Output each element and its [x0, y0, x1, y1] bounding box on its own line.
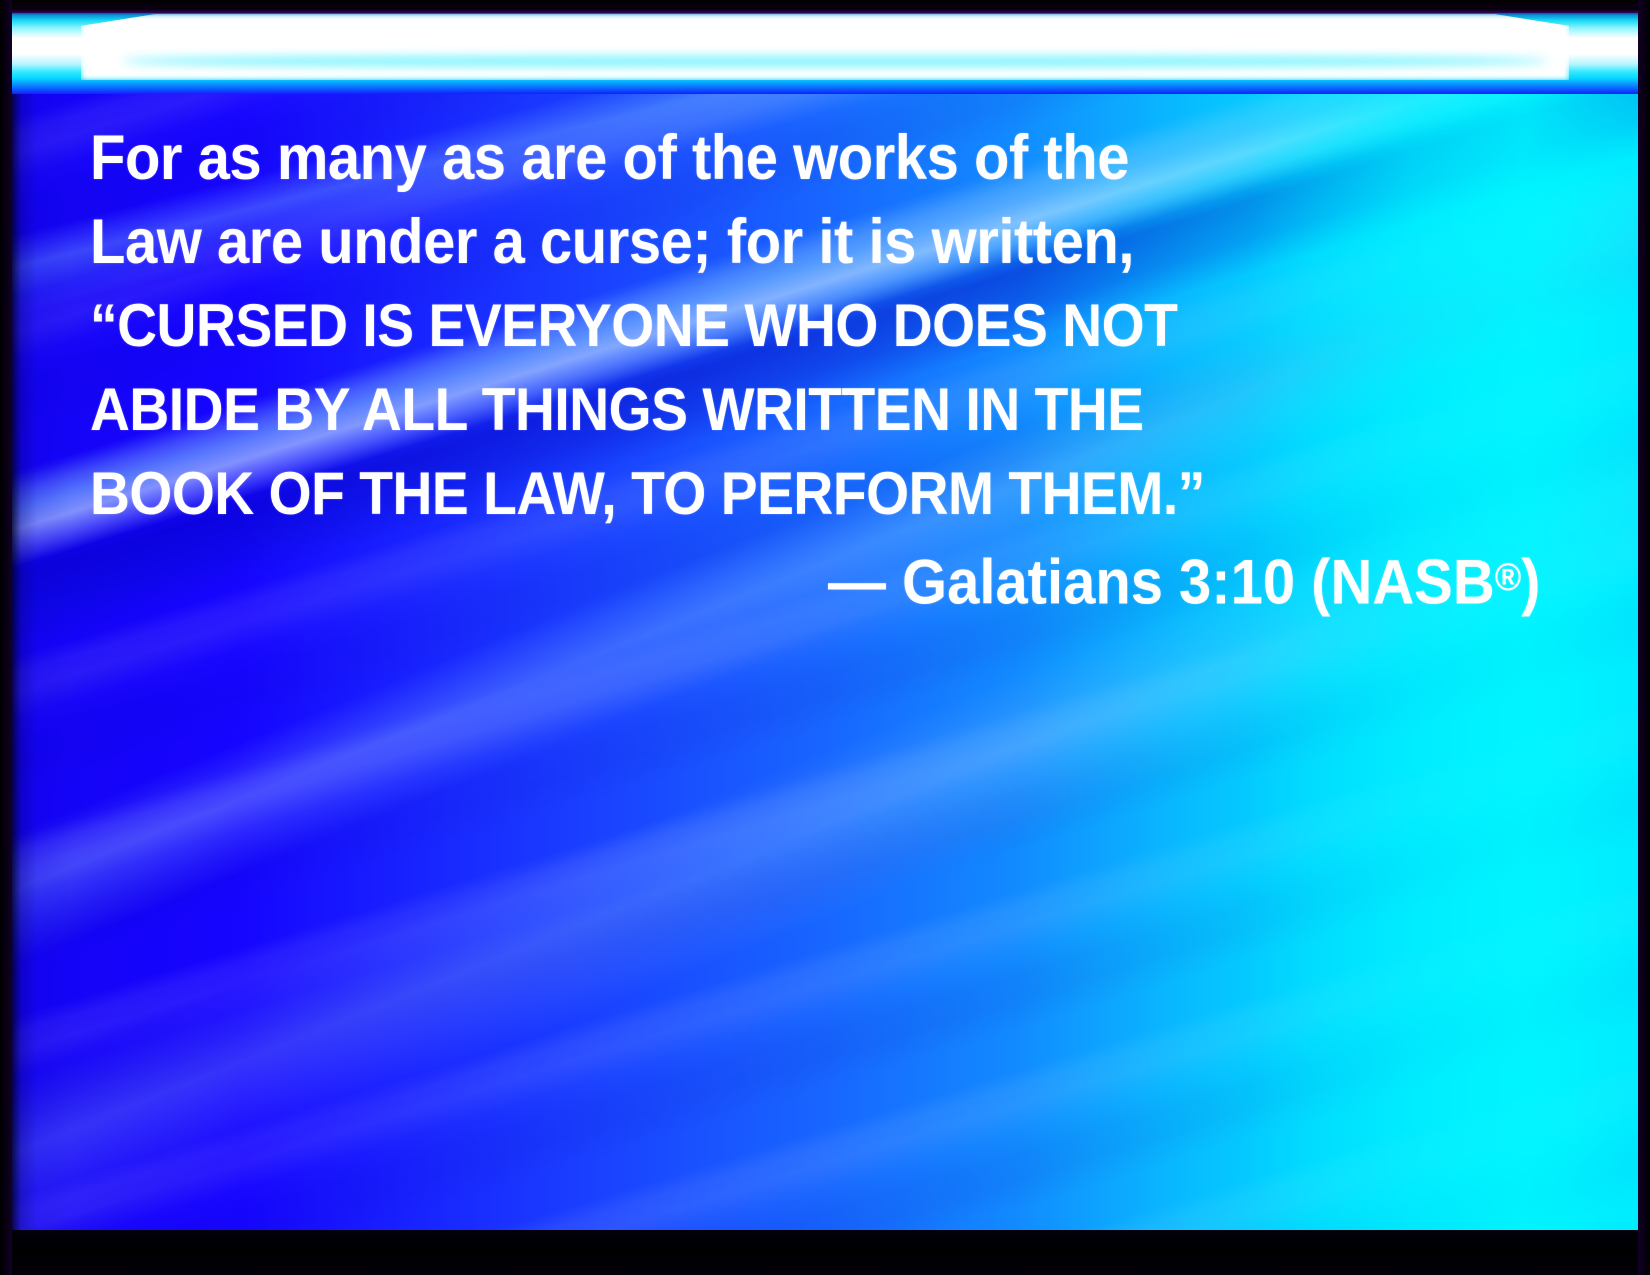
- verse-line-5: BOOK OF THE LAW, TO PERFORM THEM.”: [90, 452, 1424, 536]
- verse-attribution: — Galatians 3:10 (NASB®): [90, 536, 1540, 624]
- frame-top-edge: [0, 0, 1650, 8]
- verse-slide: For as many as are of the works of the L…: [0, 0, 1650, 1275]
- verse-text-block: For as many as are of the works of the L…: [90, 116, 1540, 536]
- frame-bottom-edge: [0, 1230, 1650, 1275]
- verse-line-1: For as many as are of the works of the: [90, 116, 1424, 200]
- verse-line-4: ABIDE BY ALL THINGS WRITTEN IN THE: [90, 368, 1424, 452]
- verse-line-3: “CURSED IS EVERYONE WHO DOES NOT: [90, 284, 1424, 368]
- slide-background-panel: For as many as are of the works of the L…: [11, 8, 1639, 1230]
- registered-trademark-icon: ®: [1494, 556, 1520, 599]
- attribution-inner: — Galatians 3:10 (NASB®): [827, 536, 1540, 624]
- header-glow-white-panel: [81, 14, 1569, 80]
- header-glow-cyan-streak: [121, 54, 1549, 68]
- frame-right-edge: [1638, 0, 1650, 1275]
- header-glow-band: [11, 8, 1639, 94]
- header-top-dark-edge: [11, 8, 1639, 13]
- attribution-suffix: ): [1521, 547, 1540, 617]
- verse-line-2: Law are under a curse; for it is written…: [90, 200, 1424, 284]
- attribution-prefix: — Galatians 3:10 (NASB: [827, 547, 1494, 617]
